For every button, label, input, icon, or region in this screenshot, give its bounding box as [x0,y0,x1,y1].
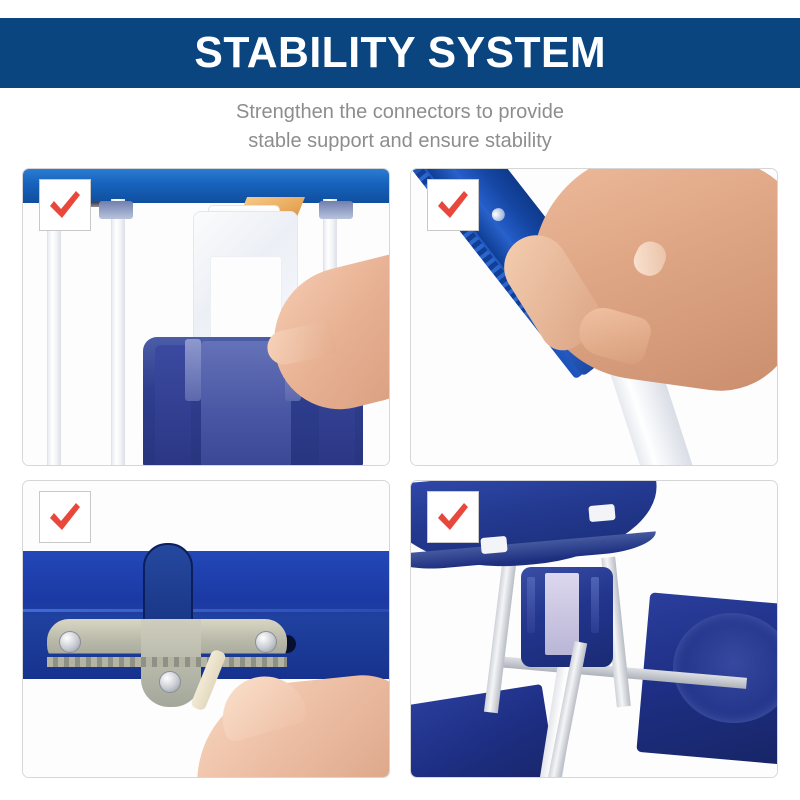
beam-seam [23,609,389,612]
check-icon [45,185,85,225]
page-title: STABILITY SYSTEM [194,31,606,75]
slide-bracket-left [99,201,133,219]
check-icon [433,185,473,225]
check-badge [39,491,91,543]
slide-post-mid [111,199,125,465]
plate-screw-left [59,631,81,653]
check-badge [427,491,479,543]
plate-screw-right [255,631,277,653]
slide-tab-left [185,339,201,401]
hub-rib-right [591,577,599,633]
infographic-page: STABILITY SYSTEM Strengthen the connecto… [0,0,800,800]
slide-post-left [47,199,61,465]
hub-rib-left [527,577,535,633]
plate-screw-bottom [159,671,181,693]
panel-top-right [410,168,778,466]
check-icon [45,497,85,537]
panel-bottom-left [22,480,390,778]
plate-teeth [47,657,287,667]
table-slot-right [588,504,615,522]
table-slot-left [480,536,507,554]
photo-grid [22,168,778,778]
check-icon [433,497,473,537]
check-badge [39,179,91,231]
header-banner: STABILITY SYSTEM [0,18,800,88]
check-badge [427,179,479,231]
subtitle: Strengthen the connectors to provide sta… [0,98,800,156]
subtitle-line-2: stable support and ensure stability [0,127,800,156]
slide-frame-opening [210,256,282,346]
panel-bottom-right [410,480,778,778]
slide-bracket-right [319,201,353,219]
panel-top-left [22,168,390,466]
subtitle-line-1: Strengthen the connectors to provide [0,98,800,127]
